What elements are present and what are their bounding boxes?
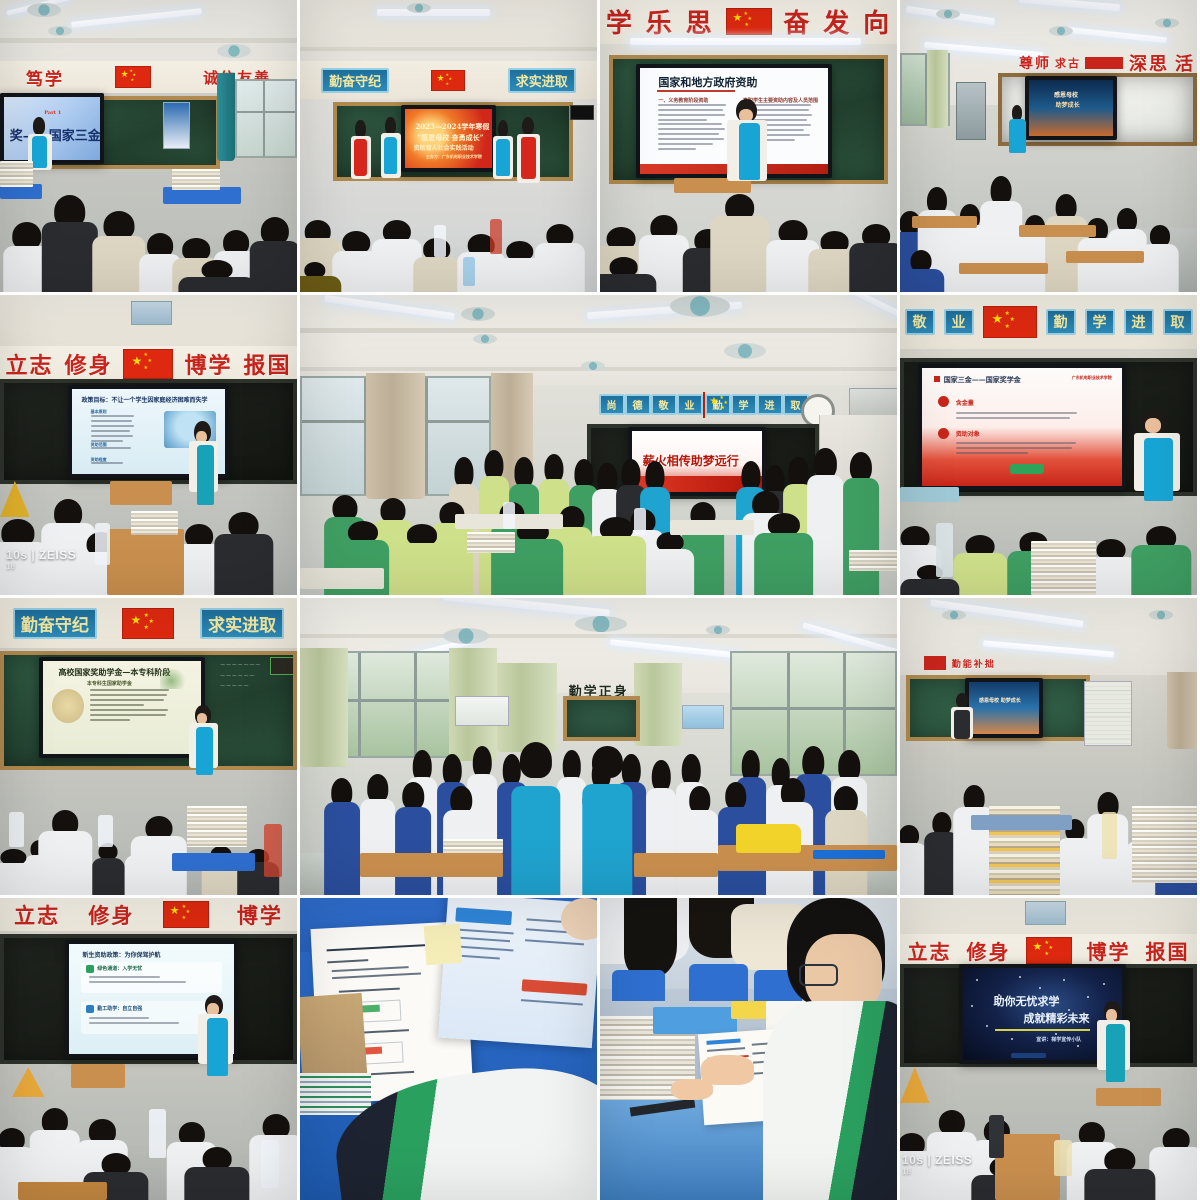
photo-cell-r4c4[interactable]: 立志 修身 ★ ★ ★ ★ 博学 报国 — [900, 898, 1197, 1200]
wall-banner-text: 学 — [606, 3, 634, 40]
wall-plaque-right: 求实进取 — [508, 68, 576, 93]
slide-title-line2: 成就精彩未来 — [1024, 1010, 1090, 1026]
wall-banner-text: 立志 — [908, 936, 952, 965]
slide-bullet-1: 含金量 — [956, 398, 974, 407]
wall-plaque: 进 — [1124, 309, 1154, 335]
wall-plaque-left: 勤奋守纪 — [321, 68, 389, 93]
photo-cell-r2c1[interactable]: 立志 修身 ★ ★ ★ ★ 博学 报国 政策目标：不让一个学生因家庭经济困难而失… — [0, 295, 297, 595]
wall-banner-text: 博学 — [184, 348, 232, 380]
camera-watermark: 10s | ZEISS 18 — [902, 1153, 972, 1176]
slide-title: 奖——国家三金、校奖 — [10, 125, 104, 144]
wall-plaque: 敬 — [905, 309, 935, 335]
wall-plaque: 取 — [1163, 309, 1193, 335]
slide-subtitle: “感恩母校 奋勇成长” — [417, 133, 484, 143]
slide-subtitle: 本专科生国家助学金 — [87, 680, 132, 687]
volunteer-front-left — [509, 742, 563, 895]
photo-cell-r2c4[interactable]: 敬 业 ★ ★ ★ ★ 勤 学 进 取 国家三金——国家奖学金 广东机电职业技术 — [900, 295, 1197, 595]
wall-banner-text: 博学 — [1087, 936, 1131, 965]
wall-banner-text: 尊师 — [1019, 53, 1051, 73]
photo-cell-r4c3-student-reading[interactable] — [600, 898, 897, 1200]
china-flag: ★ ★ ★ ★ — [122, 608, 174, 639]
slide-footer: 主办方：广东机电职业技术学院 — [426, 154, 482, 160]
slide-line3: 资助育人社会实践活动 — [414, 143, 474, 152]
wall-plaque: 勤 — [1046, 309, 1076, 335]
wall-banner-text: 深思 — [1129, 50, 1169, 76]
china-flag: ★ ★ ★ ★ — [431, 70, 465, 91]
slide-group-1: 绿色通道：入学无忧 — [97, 965, 142, 972]
slide-subtitle: 助梦成长 — [1056, 100, 1080, 109]
china-flag: ★ ★ ★ ★ — [726, 8, 772, 35]
slide-bullet-2: 资助对象 — [956, 429, 980, 438]
china-flag: ★ ★ ★ ★ — [163, 901, 209, 928]
wall-banner-text: 发 — [823, 3, 851, 40]
slide-title: 国家三金——国家奖学金 — [944, 375, 1021, 385]
wall-banner-text: 奋 — [783, 3, 811, 40]
slide-title: 感恩母校 助梦成长 — [979, 697, 1021, 704]
wall-banner-text: 思 — [686, 3, 714, 40]
photo-cell-r1c4[interactable]: 尊师 求古 深思 活 感恩母校 助梦成长 — [900, 0, 1197, 292]
wall-banner-text: 活 — [1175, 50, 1195, 76]
wall-banner-text: 修身 — [64, 348, 112, 380]
wall-banner-text: 立志 — [5, 348, 53, 380]
photo-cell-r3c4[interactable]: 勤能补拙 感恩母校 助梦成长 — [900, 598, 1197, 895]
slide-bullet-1: 基本原则 — [91, 409, 107, 415]
photo-cell-r3c1[interactable]: 勤奋守纪 ★ ★ ★ ★ 求实进取 高校国家奖助学金—本专科阶段 本专科生国家助… — [0, 598, 297, 895]
wall-banner-text: 勤能补拙 — [952, 657, 996, 670]
photo-cell-r4c1[interactable]: 立志 修身 ★ ★ ★ ★ 博学 新生资助政策：为你保驾护航 绿色通道：入学无忧 — [0, 898, 297, 1200]
slide-title: 感恩母校 — [1054, 90, 1078, 99]
photo-cell-r3c23-group[interactable]: 勤学正身 — [300, 598, 897, 895]
wall-banner-text: 博学 — [237, 900, 283, 930]
projector-screen: 高校国家奖助学金—本专科阶段 本专科生国家助学金 — [39, 657, 205, 758]
wall-banner-text: 报国 — [243, 348, 291, 380]
wall-banner-text: 报国 — [1146, 936, 1190, 965]
slide-school-name: 广东机电职业技术学院 — [1072, 375, 1112, 381]
wall-banner-text: 乐 — [646, 3, 674, 40]
wall-banner-text: 向 — [863, 3, 891, 40]
wall-banner-text: 修身 — [967, 936, 1011, 965]
camera-watermark: 10s | ZEISS 18 — [6, 548, 76, 571]
slide-title: 国家和地方政府资助 — [658, 74, 757, 90]
student-reading — [760, 898, 897, 1200]
wall-banner-text: 求古 — [1055, 55, 1081, 71]
china-flag: ★ ★ ★ ★ — [1026, 937, 1072, 964]
projector-screen: 2023—2024学年寒假 “感恩母校 奋勇成长” 资助育人社会实践活动 主办方… — [401, 105, 496, 172]
photo-collage-grid: 笃学 ★ ★ ★ ★ 诚信友善 ～～ Part 1 奖——国家三金、校奖 — [0, 0, 1200, 1200]
wall-banner-text: 立志 — [14, 900, 60, 930]
photo-cell-r1c3[interactable]: 学 乐 思 ★ ★ ★ ★ 奋 发 向 国家和地方政府资助 一、义 — [600, 0, 897, 292]
china-flag: ★ ★ ★ ★ — [115, 66, 151, 88]
photo-cell-r4c2-desk-closeup[interactable] — [300, 898, 597, 1200]
volunteer-front-right — [581, 746, 635, 895]
slide-title-line1: 助你无忧求学 — [993, 993, 1059, 1009]
slide-title: 政策目标：不让一个学生因家庭经济困难而失学 — [81, 395, 207, 404]
china-flag: ★ ★ ★ ★ — [123, 349, 173, 379]
slide-part-label: Part 1 — [44, 110, 61, 116]
slide-title: 2023—2024学年寒假 — [415, 122, 489, 132]
slide-presenter: 宣讲：梯学宣传小队 — [1036, 1036, 1081, 1043]
wall-plaque: 求实进取 — [200, 608, 284, 639]
wall-banner-text: 笃学 — [26, 65, 64, 90]
photo-cell-r2c23-group[interactable]: 尚 德 敬 业 ★ ★ ★ ★ 勤 学 进 取 薪火相传助梦远 — [300, 295, 897, 595]
slide-group-2: 勤工助学：自立自强 — [97, 1005, 142, 1012]
photo-cell-r1c1[interactable]: 笃学 ★ ★ ★ ★ 诚信友善 ～～ Part 1 奖——国家三金、校奖 — [0, 0, 297, 292]
projector-screen: 国家三金——国家奖学金 广东机电职业技术学院 含金量 资助对象 — [918, 364, 1126, 490]
window — [235, 79, 297, 158]
slide-title: 新生资助政策：为你保驾护航 — [82, 950, 160, 959]
wall-banner-text: 修身 — [88, 900, 134, 930]
eyeglasses-icon — [799, 964, 838, 985]
wall-plaque: 勤奋守纪 — [13, 608, 97, 639]
wall-plaque: 学 — [1085, 309, 1115, 335]
slide-col1-head: 一、义务教育阶段资助 — [658, 97, 708, 104]
photo-cell-r1c2[interactable]: 勤奋守纪 ★ ★ ★ ★ 求实进取 2023—2024学年寒假 “感恩母校 奋勇… — [300, 0, 597, 292]
wall-plaque: 业 — [944, 309, 974, 335]
slide-title: 高校国家奖助学金—本专科阶段 — [58, 667, 170, 678]
china-flag: ★ ★ ★ ★ — [983, 306, 1037, 338]
